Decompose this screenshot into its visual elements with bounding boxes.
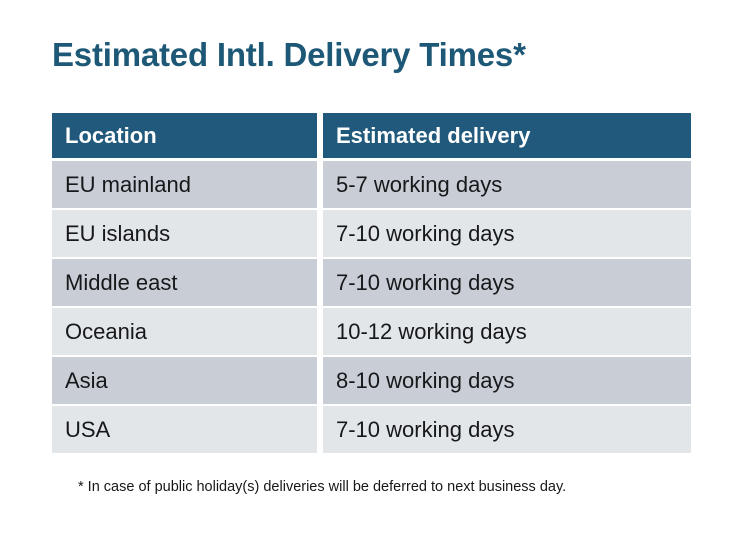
cell-location: USA xyxy=(52,406,317,453)
cell-location: EU mainland xyxy=(52,161,317,208)
cell-delivery: 10-12 working days xyxy=(323,308,691,355)
column-header-estimated-delivery: Estimated delivery xyxy=(323,113,691,158)
cell-location: Oceania xyxy=(52,308,317,355)
table-header-row: Location Estimated delivery xyxy=(52,113,691,158)
delivery-times-table: Location Estimated delivery EU mainland … xyxy=(52,113,691,453)
table-row: Middle east 7-10 working days xyxy=(52,259,691,306)
cell-location: EU islands xyxy=(52,210,317,257)
cell-delivery: 8-10 working days xyxy=(323,357,691,404)
table-row: EU islands 7-10 working days xyxy=(52,210,691,257)
cell-location: Asia xyxy=(52,357,317,404)
page-title: Estimated Intl. Delivery Times* xyxy=(52,36,526,74)
cell-delivery: 7-10 working days xyxy=(323,406,691,453)
column-header-location: Location xyxy=(52,113,317,158)
cell-delivery: 5-7 working days xyxy=(323,161,691,208)
cell-delivery: 7-10 working days xyxy=(323,210,691,257)
cell-location: Middle east xyxy=(52,259,317,306)
footnote-text: * In case of public holiday(s) deliverie… xyxy=(78,479,566,495)
table-row: Oceania 10-12 working days xyxy=(52,308,691,355)
table-row: EU mainland 5-7 working days xyxy=(52,161,691,208)
delivery-times-page: Estimated Intl. Delivery Times* Location… xyxy=(0,0,745,536)
table-row: USA 7-10 working days xyxy=(52,406,691,453)
cell-delivery: 7-10 working days xyxy=(323,259,691,306)
table-row: Asia 8-10 working days xyxy=(52,357,691,404)
